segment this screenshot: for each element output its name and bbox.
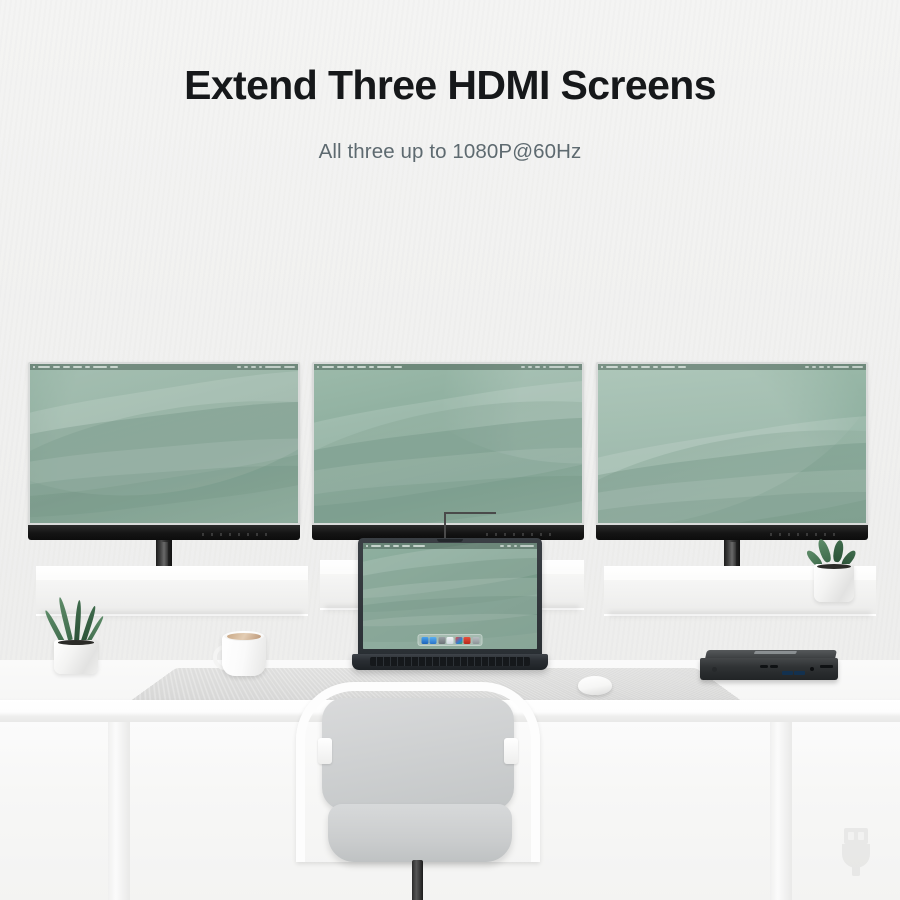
apple-menu-icon bbox=[317, 366, 319, 368]
laptop-keyboard[interactable] bbox=[370, 657, 530, 666]
dock-app-icon[interactable] bbox=[472, 637, 479, 644]
dock-app-icon[interactable] bbox=[438, 637, 445, 644]
desk-leg-right bbox=[770, 722, 792, 900]
laptop-cable bbox=[444, 512, 496, 514]
coffee-mug bbox=[222, 628, 266, 676]
page-title: Extend Three HDMI Screens bbox=[0, 62, 900, 109]
laptop-dock[interactable] bbox=[418, 634, 483, 646]
right-monitor-menubar bbox=[598, 364, 866, 370]
plant-pot bbox=[814, 564, 854, 602]
apple-menu-icon bbox=[601, 366, 603, 368]
chair-seat bbox=[328, 804, 512, 862]
left-monitor-screen bbox=[30, 364, 298, 523]
dock-app-icon[interactable] bbox=[464, 637, 471, 644]
dock-app-icon[interactable] bbox=[455, 637, 462, 644]
right-monitor-wallpaper bbox=[598, 364, 866, 523]
laptop-base bbox=[352, 654, 548, 670]
desk-leg-left bbox=[108, 722, 130, 900]
usb-c-docking-station bbox=[700, 650, 840, 684]
potted-plant-right bbox=[806, 538, 862, 604]
right-monitor-bezel bbox=[596, 362, 868, 525]
usb-plug-icon bbox=[834, 826, 878, 878]
dock-app-icon[interactable] bbox=[430, 637, 437, 644]
usb-a-port[interactable] bbox=[782, 671, 793, 675]
plant-leaf bbox=[74, 600, 82, 642]
chair-gas-cylinder bbox=[412, 860, 423, 900]
apple-menu-icon bbox=[33, 366, 35, 368]
chair-bracket bbox=[318, 738, 332, 764]
plant-pot bbox=[54, 640, 98, 674]
dock-app-icon[interactable] bbox=[447, 637, 454, 644]
laptop-cable bbox=[444, 514, 446, 540]
left-monitor-wallpaper bbox=[30, 364, 298, 523]
page-subtitle: All three up to 1080P@60Hz bbox=[0, 140, 900, 164]
right-monitor-screen bbox=[598, 364, 866, 523]
left-monitor bbox=[28, 362, 300, 540]
dock-app-icon[interactable] bbox=[421, 637, 428, 644]
sd-card-slot[interactable] bbox=[820, 665, 833, 668]
left-monitor-bezel bbox=[28, 362, 300, 525]
mouse[interactable] bbox=[578, 676, 612, 695]
center-monitor-bezel bbox=[312, 362, 584, 525]
coffee-surface bbox=[227, 633, 261, 640]
usb-a-port[interactable] bbox=[794, 671, 805, 675]
chair-backrest bbox=[322, 698, 514, 810]
center-monitor-wallpaper bbox=[314, 364, 582, 523]
usb-c-port[interactable] bbox=[760, 665, 768, 668]
laptop-menubar bbox=[363, 543, 537, 549]
product-marketing-image: Extend Three HDMI Screens All three up t… bbox=[0, 0, 900, 900]
usb-c-port[interactable] bbox=[770, 665, 778, 668]
office-chair bbox=[296, 676, 540, 900]
center-monitor-menubar bbox=[314, 364, 582, 370]
laptop-lid bbox=[358, 538, 542, 656]
chair-bracket bbox=[504, 738, 518, 764]
power-port[interactable] bbox=[712, 667, 717, 672]
apple-menu-icon bbox=[366, 545, 368, 547]
dock-brand-label bbox=[754, 651, 797, 654]
center-monitor-screen bbox=[314, 364, 582, 523]
laptop-screen bbox=[363, 543, 537, 649]
right-monitor bbox=[596, 362, 868, 540]
left-monitor-menubar bbox=[30, 364, 298, 370]
laptop-notch bbox=[437, 539, 463, 542]
audio-jack-port[interactable] bbox=[810, 667, 814, 671]
dock-front-face bbox=[700, 658, 838, 680]
left-monitor-chin bbox=[28, 525, 300, 540]
potted-plant-left bbox=[48, 596, 104, 674]
